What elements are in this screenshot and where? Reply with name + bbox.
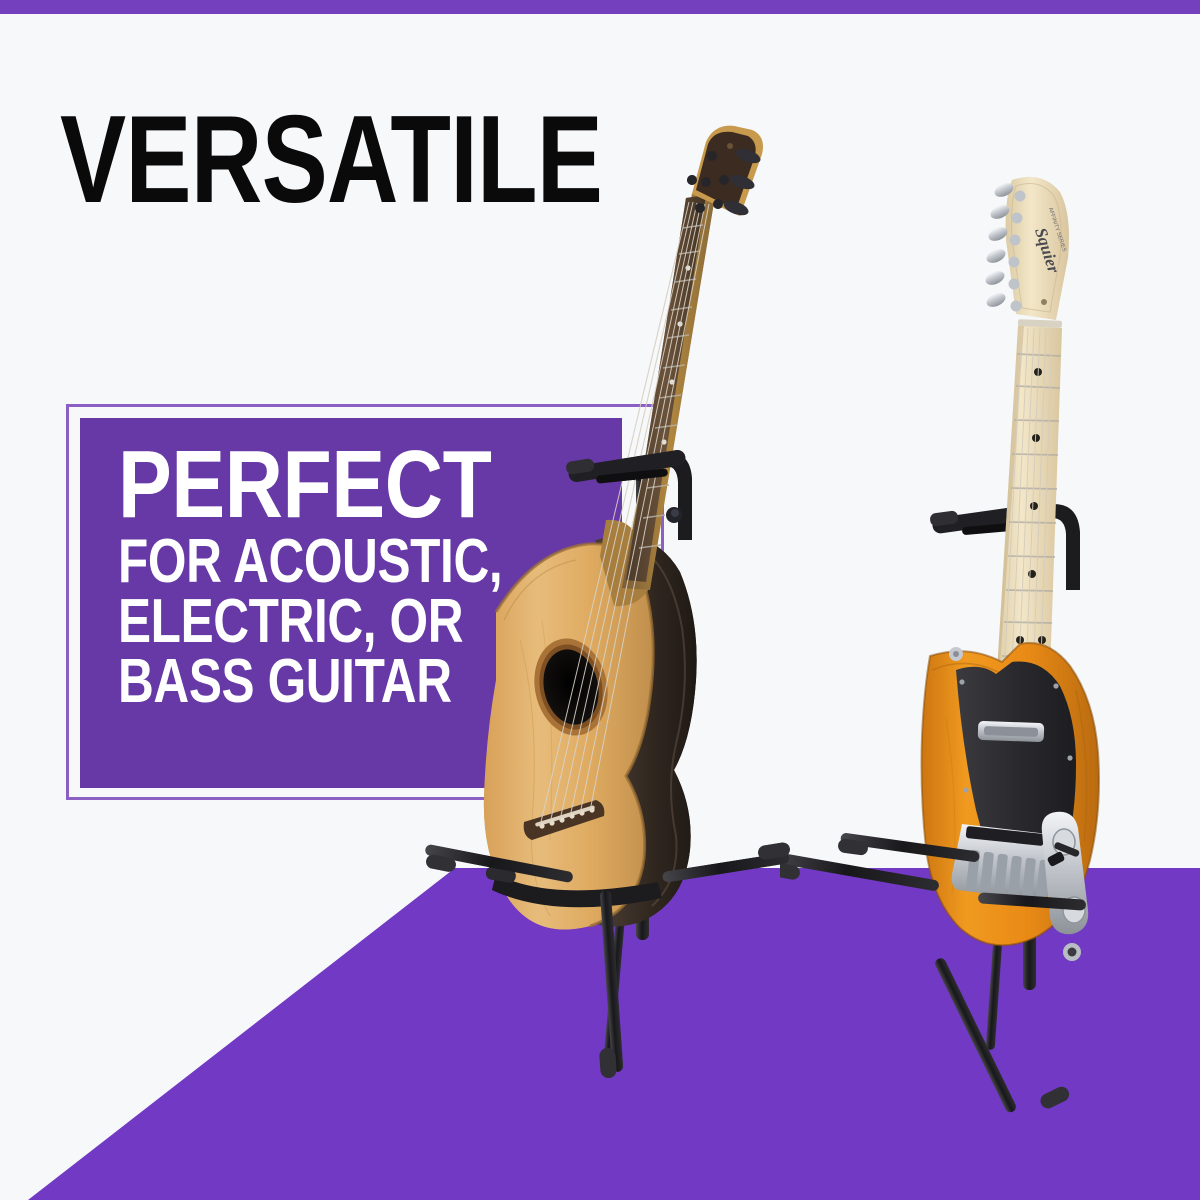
electric-strap-button bbox=[949, 647, 963, 661]
electric-neck-pickup bbox=[978, 721, 1045, 742]
callout-line-1: PERFECT bbox=[118, 440, 555, 529]
top-accent-bar bbox=[0, 0, 1200, 14]
banner-canvas: VERSATILE bbox=[0, 0, 1200, 1200]
callout-line-4: BASS GUITAR bbox=[118, 653, 534, 711]
electric-bridge bbox=[952, 824, 1055, 900]
electric-headstock: Squier AFFINITY SERIES bbox=[983, 177, 1069, 328]
callout-text-group: PERFECT FOR ACOUSTIC, ELECTRIC, OR BASS … bbox=[118, 440, 638, 712]
callout-line-3: ELECTRIC, OR bbox=[118, 593, 534, 651]
electric-guitar-with-stand: Squier AFFINITY SERIES bbox=[780, 170, 1180, 1150]
acoustic-headstock bbox=[687, 126, 763, 218]
callout-line-2: FOR ACOUSTIC, bbox=[118, 533, 534, 591]
